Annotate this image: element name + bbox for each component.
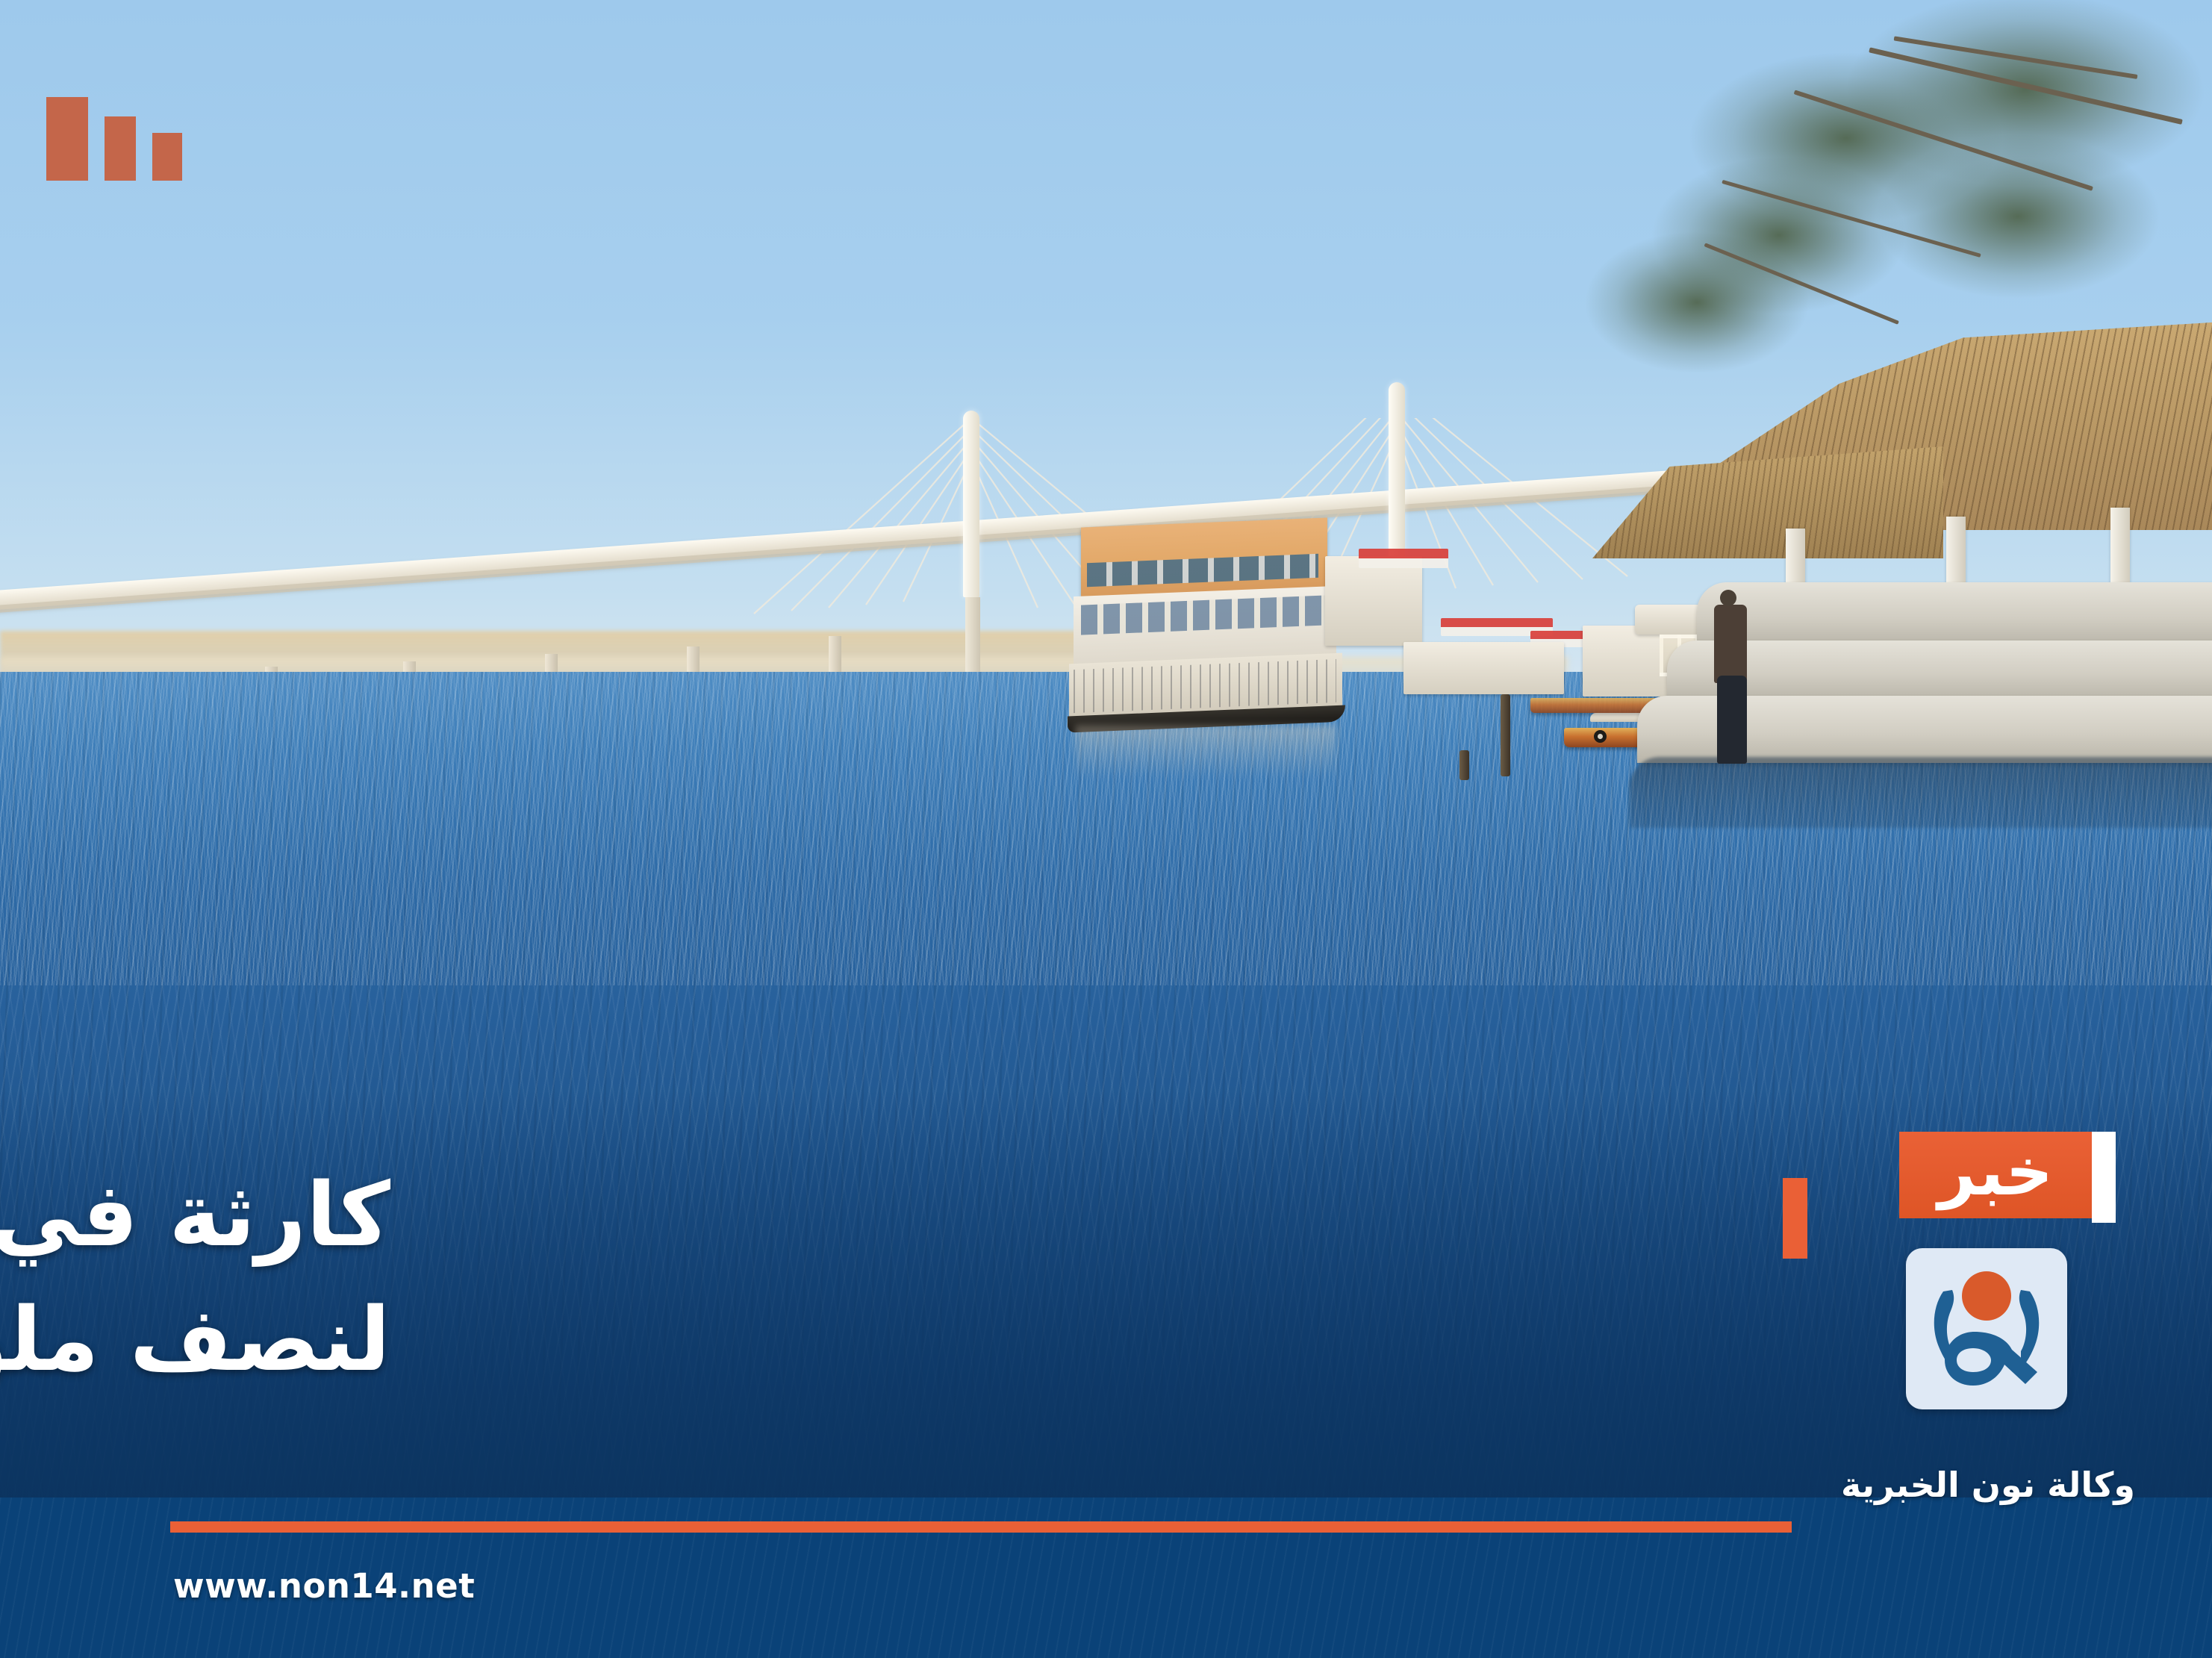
noon-logo-mark-icon bbox=[1906, 1248, 2067, 1409]
news-badge: خبر bbox=[1899, 1132, 2092, 1218]
promenade-step bbox=[1667, 641, 2212, 700]
footer-divider bbox=[170, 1521, 1792, 1533]
corner-bar-1 bbox=[46, 97, 88, 181]
dock-building bbox=[1325, 556, 1422, 646]
headline-line-2: لنصف ملوحة مياه البحر bbox=[0, 1277, 390, 1403]
floating-restaurant bbox=[1068, 523, 1366, 747]
headline-accent-bar bbox=[1783, 1178, 1807, 1259]
tree-canopy bbox=[1876, 134, 2160, 299]
mooring-piling bbox=[1459, 750, 1469, 780]
news-badge-tab bbox=[2092, 1132, 2116, 1223]
mooring-piling bbox=[1501, 694, 1510, 776]
corner-bars-decoration bbox=[46, 97, 182, 181]
dock-platform bbox=[1403, 642, 1564, 694]
tire-fender bbox=[1594, 730, 1607, 743]
person-standing bbox=[1714, 605, 1747, 683]
agency-name: وكالة نون الخبرية bbox=[1831, 1465, 2145, 1505]
news-badge-label: خبر bbox=[1938, 1139, 2053, 1211]
headline: كارثة في شط العرب: سيصل لنصف ملوحة مياه … bbox=[0, 1153, 390, 1403]
agency-logo bbox=[1906, 1248, 2067, 1409]
promenade-step bbox=[1697, 582, 2212, 646]
logo-orange-dot-icon bbox=[1962, 1271, 2011, 1321]
promenade-waterline-shadow bbox=[1630, 757, 2212, 828]
person-legs bbox=[1717, 676, 1747, 764]
bridge-pylon bbox=[963, 411, 979, 597]
person-head bbox=[1720, 590, 1736, 606]
news-card: كارثة في شط العرب: سيصل لنصف ملوحة مياه … bbox=[0, 0, 2212, 1658]
site-url[interactable]: www.non14.net bbox=[173, 1566, 475, 1606]
thatched-gazebo bbox=[1660, 321, 2212, 590]
restaurant-reflection bbox=[1075, 726, 1336, 778]
awning bbox=[1359, 549, 1448, 568]
background-photo bbox=[0, 0, 2212, 1658]
logo-right-arm-icon bbox=[2019, 1290, 2039, 1369]
headline-line-1: كارثة في شط العرب: سيصل bbox=[0, 1153, 390, 1278]
corner-bar-2 bbox=[105, 116, 136, 181]
corner-bar-3 bbox=[152, 133, 182, 181]
